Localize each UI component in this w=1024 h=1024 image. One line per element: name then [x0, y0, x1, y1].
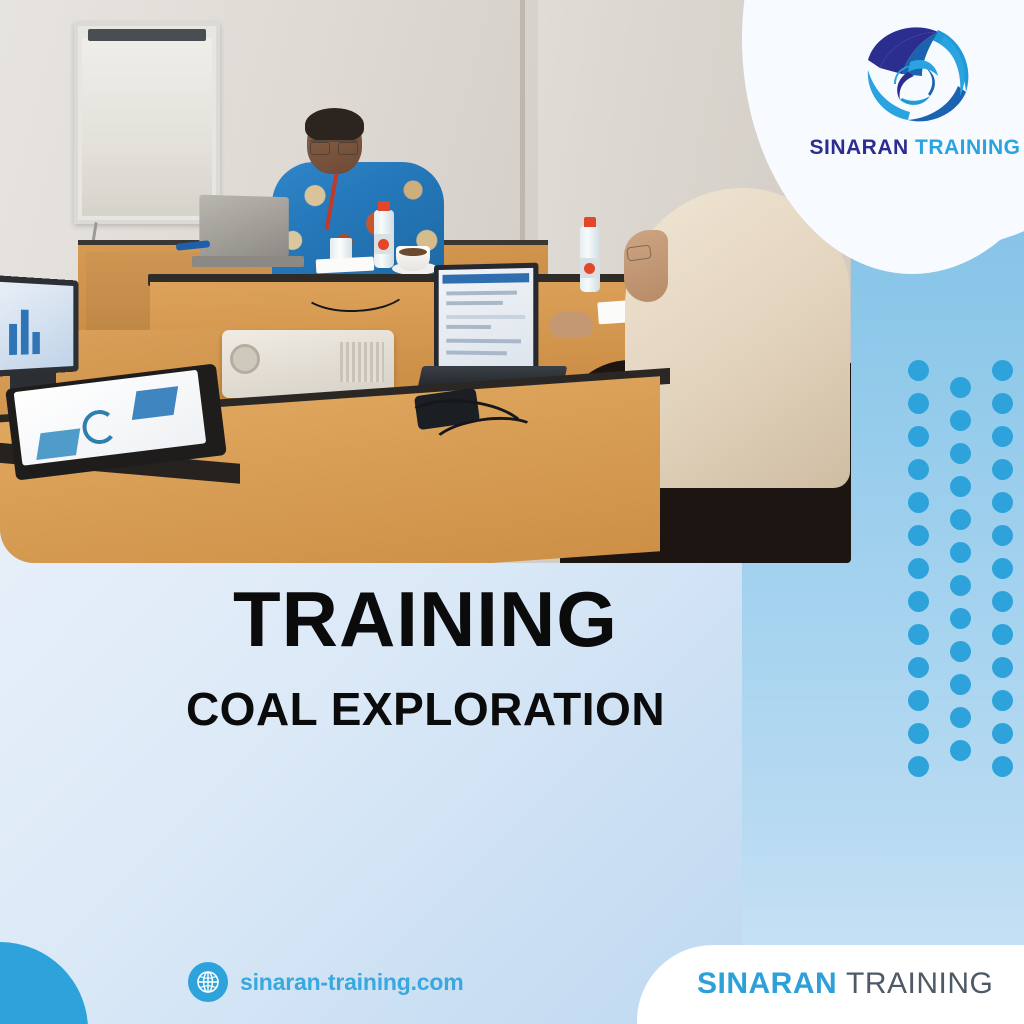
decor-dot	[908, 690, 929, 711]
monitor-chart-bar	[9, 324, 17, 355]
decor-dot	[908, 393, 929, 414]
woman-hand-on-mouse	[549, 312, 593, 338]
decor-dot	[992, 624, 1013, 645]
decor-dot	[992, 591, 1013, 612]
decor-dot	[950, 641, 971, 662]
decor-dot	[992, 690, 1013, 711]
man-glasses	[310, 140, 358, 151]
decor-dot	[950, 443, 971, 464]
footer-brand-plate: SINARAN TRAINING	[637, 945, 1024, 1024]
footer-brand-wordmark: SINARAN TRAINING	[697, 967, 993, 1001]
binder-cover-sheet	[14, 370, 207, 466]
decor-dot	[950, 608, 971, 629]
decor-dot	[950, 674, 971, 695]
decor-dot	[908, 525, 929, 546]
decor-dot	[908, 558, 929, 579]
training-photo	[0, 0, 851, 563]
laptop-screen-row	[446, 291, 517, 296]
bottle-label	[374, 234, 394, 254]
decor-dot	[992, 525, 1013, 546]
flipchart-board	[74, 22, 220, 224]
decor-dot	[992, 393, 1013, 414]
bottle-cap-2	[584, 217, 596, 227]
decor-dot	[950, 509, 971, 530]
flipchart-paper	[82, 38, 212, 216]
projector-lens	[230, 344, 260, 374]
decor-dot	[992, 657, 1013, 678]
laptop-screen-row	[446, 301, 503, 305]
decor-dot	[992, 459, 1013, 480]
decor-dot	[950, 542, 971, 563]
binder-square-1	[132, 386, 178, 420]
bottom-left-accent-circle	[0, 942, 88, 1024]
logo-wordmark: SINARAN TRAINING	[806, 136, 1024, 160]
sinaran-swirl-logo-icon	[850, 14, 980, 132]
woman-face	[624, 230, 668, 302]
decor-dot	[992, 426, 1013, 447]
decor-dot	[992, 723, 1013, 744]
bottle-cap	[378, 201, 390, 211]
decor-dot	[950, 707, 971, 728]
projector	[222, 330, 394, 398]
projector-vent	[340, 342, 384, 382]
decor-dot	[992, 360, 1013, 381]
decor-dot	[950, 476, 971, 497]
logo-word-sinaran: SINARAN	[809, 136, 908, 159]
footer-brand-training: TRAINING	[846, 967, 993, 1000]
website-row[interactable]: sinaran-training.com	[188, 962, 464, 1002]
main-laptop-screen	[434, 263, 538, 378]
globe-icon	[188, 962, 228, 1002]
water-bottle-2	[580, 226, 600, 292]
decor-dot	[908, 591, 929, 612]
decor-dot	[950, 410, 971, 431]
monitor-chart-bar	[21, 310, 29, 355]
decor-dot	[908, 624, 929, 645]
decor-dot	[908, 426, 929, 447]
man-hair	[305, 108, 364, 142]
decor-dot	[992, 558, 1013, 579]
poster-canvas: TRAINING COAL EXPLORATION	[0, 0, 1024, 1024]
binder-logo-swirl-icon	[81, 408, 119, 446]
decor-dot	[992, 756, 1013, 777]
water-bottle-1	[374, 210, 394, 268]
decor-dot	[908, 492, 929, 513]
decor-dot	[908, 723, 929, 744]
laptop-screen-row	[446, 325, 491, 329]
decor-dot	[908, 657, 929, 678]
decor-dot	[992, 492, 1013, 513]
photo-wall-seam	[520, 0, 525, 250]
laptop-screen-row	[446, 350, 507, 355]
logo-word-training: TRAINING	[915, 136, 1021, 159]
back-laptop-screen	[199, 195, 288, 260]
laptop-screen-row	[446, 339, 521, 344]
left-monitor	[0, 275, 78, 377]
footer-brand-sinaran: SINARAN	[697, 967, 837, 1000]
decor-dot	[908, 360, 929, 381]
back-laptop-base	[192, 256, 304, 267]
binder-square-2	[36, 428, 80, 460]
flipchart-clip	[88, 29, 206, 41]
page-title: TRAINING	[0, 580, 851, 658]
coffee-cup-1	[396, 246, 430, 271]
website-url[interactable]: sinaran-training.com	[240, 969, 464, 996]
decor-dot	[908, 459, 929, 480]
monitor-chart-bar	[32, 332, 39, 354]
brand-logo: SINARAN TRAINING	[806, 14, 1024, 174]
decor-dot	[950, 740, 971, 761]
bottle-label-2	[580, 258, 600, 278]
decor-dot	[950, 575, 971, 596]
page-subtitle: COAL EXPLORATION	[0, 686, 851, 732]
laptop-screen-titlebar	[442, 273, 529, 284]
decor-dot	[950, 377, 971, 398]
laptop-screen-row	[446, 315, 525, 319]
decor-dot	[908, 756, 929, 777]
